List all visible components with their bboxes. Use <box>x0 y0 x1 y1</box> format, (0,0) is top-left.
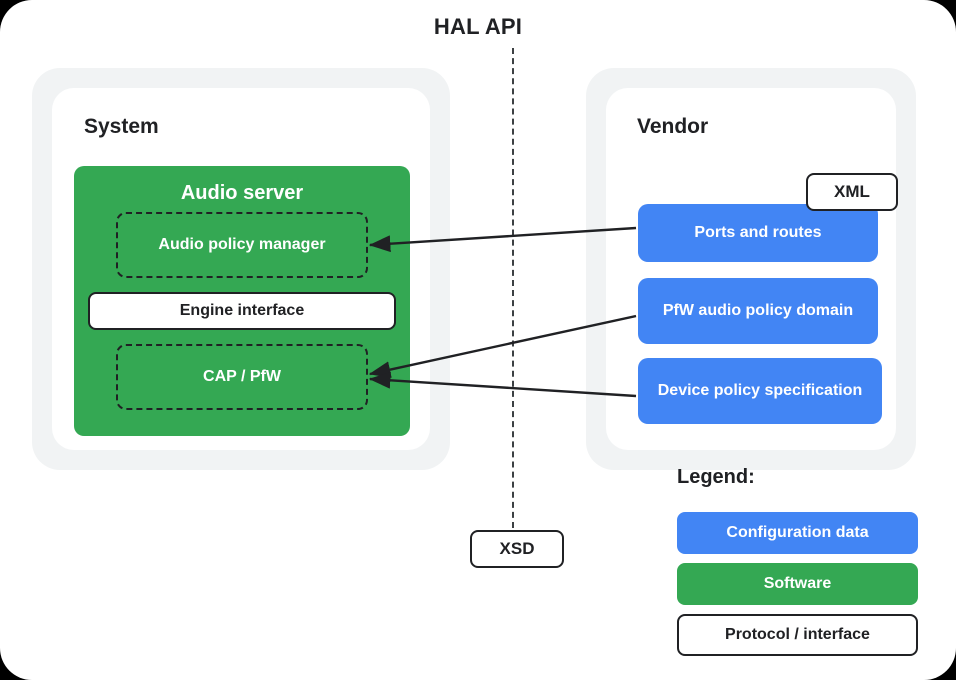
engine-interface-block[interactable]: Engine interface <box>88 292 396 330</box>
xsd-badge: XSD <box>470 530 564 568</box>
page-title: HAL API <box>0 14 956 40</box>
legend-item-protocol-interface: Protocol / interface <box>677 614 918 656</box>
audio-server-block: Audio server Audio policy manager Engine… <box>74 166 410 436</box>
diagram-canvas: HAL API System Audio server Audio policy… <box>0 0 956 680</box>
audio-server-title: Audio server <box>74 182 410 205</box>
legend-title: Legend: <box>677 466 755 489</box>
vendor-panel-heading: Vendor <box>637 115 708 139</box>
pfw-audio-policy-domain-block[interactable]: PfW audio policy domain <box>638 278 878 344</box>
hal-api-boundary-line <box>512 48 514 528</box>
legend-item-software: Software <box>677 563 918 605</box>
legend-item-configuration-data: Configuration data <box>677 512 918 554</box>
audio-policy-manager-block[interactable]: Audio policy manager <box>116 212 368 278</box>
cap-pfw-block[interactable]: CAP / PfW <box>116 344 368 410</box>
system-panel-heading: System <box>84 115 159 139</box>
xml-badge: XML <box>806 173 898 211</box>
device-policy-specification-block[interactable]: Device policy specification <box>638 358 882 424</box>
ports-and-routes-block[interactable]: Ports and routes <box>638 204 878 262</box>
